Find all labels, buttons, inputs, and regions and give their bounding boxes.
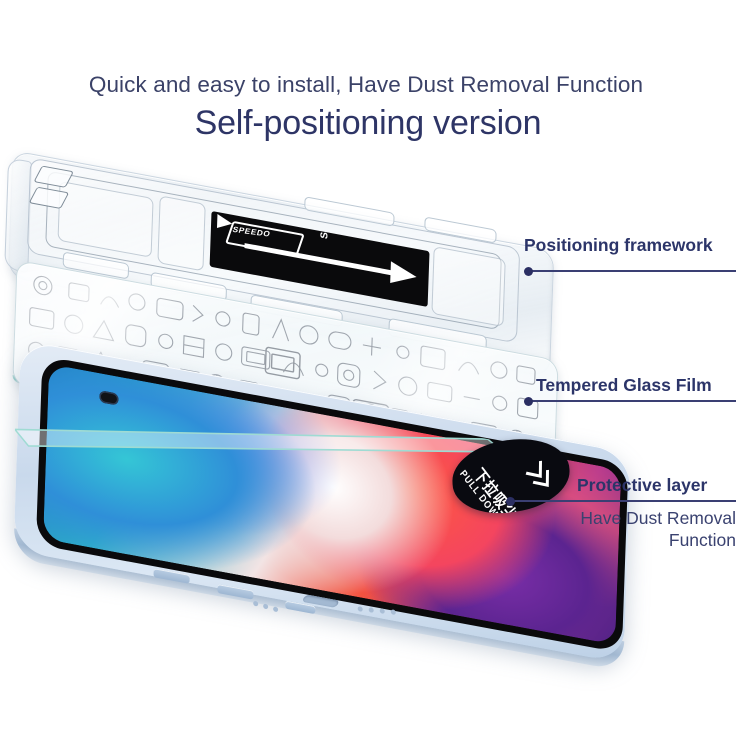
slide-arrow-head (390, 261, 417, 288)
speaker-grille-dot (369, 607, 374, 613)
frame-rib (157, 195, 205, 271)
frame-rib (431, 246, 505, 327)
slide-badge-arrow-icon (217, 214, 232, 231)
speaker-grille-dot (253, 601, 258, 607)
speaker-grille-dot (380, 608, 385, 614)
speaker-grille-dot (391, 609, 396, 615)
speaker-grille-dot (358, 606, 363, 612)
speaker-grille-dot (273, 606, 278, 612)
page-title: Self-positioning version (0, 104, 736, 143)
phone-graphic (1, 328, 671, 748)
speaker-grille-dot (263, 604, 268, 610)
product-infographic: Quick and easy to install, Have Dust Rem… (0, 0, 750, 750)
headline-text: Quick and easy to install, Have Dust Rem… (0, 72, 732, 98)
double-chevron-icon (523, 458, 558, 496)
